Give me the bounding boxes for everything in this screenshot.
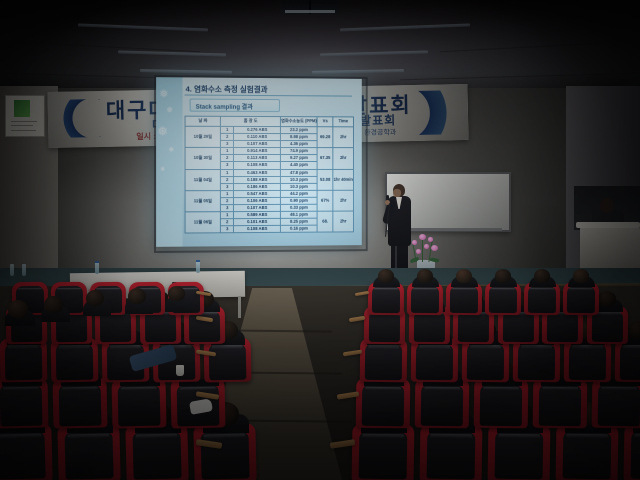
orchid-bloom xyxy=(412,240,417,245)
seat-cushion xyxy=(421,384,464,426)
seat-cushion xyxy=(209,343,246,380)
audience-head xyxy=(44,296,63,313)
presenter-face xyxy=(393,189,401,197)
seat-highlight xyxy=(211,345,243,349)
audience-member xyxy=(534,269,551,283)
seat-cushion xyxy=(480,384,523,426)
podium-person-head xyxy=(600,198,614,213)
audience-member xyxy=(44,296,63,313)
seat-cushion xyxy=(457,311,489,342)
water-bottle xyxy=(196,261,200,273)
seat-highlight xyxy=(483,386,520,390)
seat-highlight xyxy=(57,287,81,290)
water-bottle xyxy=(10,264,14,276)
seat-highlight xyxy=(470,345,502,348)
seat-cushion xyxy=(416,344,453,380)
seat-cushion xyxy=(494,431,543,479)
seat-cushion xyxy=(426,431,475,479)
audience-member xyxy=(573,269,590,283)
audience-head xyxy=(417,269,434,283)
seat-highlight xyxy=(109,345,141,349)
seat-cushion xyxy=(118,384,161,426)
orchid-bloom xyxy=(424,244,429,249)
orchid-bloom xyxy=(416,249,421,254)
seat-highlight xyxy=(424,386,461,390)
audience-head xyxy=(598,291,617,307)
seat-highlight xyxy=(58,345,90,349)
audience-member xyxy=(417,269,434,283)
orchid-bloom xyxy=(428,237,433,242)
table-leg xyxy=(238,296,241,318)
seat-cushion xyxy=(411,286,439,313)
seat-cushion xyxy=(0,384,43,426)
audience-member xyxy=(378,269,395,283)
seat-highlight xyxy=(634,434,640,439)
seat-cushion xyxy=(598,384,640,426)
seat-cushion xyxy=(56,343,93,380)
audience-member xyxy=(456,269,473,283)
poster-text-line xyxy=(11,125,33,126)
water-bottle xyxy=(95,262,99,274)
audience-member xyxy=(628,321,640,339)
audience-member xyxy=(598,291,617,307)
orchid-bloom xyxy=(419,234,426,240)
projector-body-seam xyxy=(309,0,311,14)
seat-highlight xyxy=(419,345,451,348)
seat-cushion xyxy=(489,286,517,313)
seat-highlight xyxy=(569,288,593,290)
seat-cushion xyxy=(569,344,606,380)
audience-head xyxy=(8,300,28,318)
seat-highlight xyxy=(430,434,472,439)
seat-cushion xyxy=(591,311,623,342)
audience-head xyxy=(456,269,473,283)
seat-highlight xyxy=(566,434,608,439)
seat-cushion xyxy=(450,286,478,313)
audience-member xyxy=(8,300,28,318)
audience-member xyxy=(168,286,185,301)
seat-cushion xyxy=(467,344,504,380)
audience-head xyxy=(495,269,512,283)
audience-member xyxy=(86,290,104,306)
seat-highlight xyxy=(368,345,400,348)
audience-head xyxy=(378,269,395,283)
seat-highlight xyxy=(572,345,604,348)
seat-cushion xyxy=(567,286,595,313)
bottle-cap xyxy=(95,261,99,263)
poster-text-line xyxy=(11,121,37,122)
audience-head xyxy=(628,321,640,339)
seat-cushion xyxy=(188,311,220,343)
orchid-bloom xyxy=(431,245,438,251)
bottle-cap xyxy=(196,260,200,262)
seat-cushion xyxy=(368,311,400,342)
seat-highlight xyxy=(491,288,515,290)
seat-highlight xyxy=(7,345,39,349)
seat-highlight xyxy=(452,288,476,290)
seat-highlight xyxy=(362,434,404,439)
wall-poster xyxy=(5,95,45,137)
seat-cushion xyxy=(144,311,176,343)
seat-cushion xyxy=(413,311,445,342)
poster-text-line xyxy=(11,130,36,131)
seat-highlight xyxy=(601,386,638,390)
ceiling-projector xyxy=(281,0,339,14)
audience-head xyxy=(534,269,551,283)
audience-member xyxy=(128,288,146,304)
seat-cushion xyxy=(362,384,405,426)
audience-head xyxy=(168,286,185,301)
auditorium-photo: 대구대 발표회 대구 발표회 일시 : 2009. 11. 20 대구대학교 환… xyxy=(0,0,640,480)
seat-highlight xyxy=(623,345,640,348)
seat-highlight xyxy=(521,345,553,348)
seat-highlight xyxy=(413,288,437,290)
lectern-top xyxy=(576,222,640,228)
seat-highlight xyxy=(530,288,554,290)
seat-cushion xyxy=(372,286,400,313)
seat-highlight xyxy=(542,386,579,390)
seat-cushion xyxy=(562,431,611,479)
seat-cushion xyxy=(365,344,402,380)
seat-cushion xyxy=(546,311,578,342)
seat-cushion xyxy=(630,431,640,479)
screen-frame xyxy=(154,75,368,253)
seat-cushion xyxy=(518,344,555,380)
seat-cushion xyxy=(502,311,534,342)
poster-logo-icon xyxy=(14,100,30,117)
seat-cushion xyxy=(539,384,582,426)
seat-highlight xyxy=(498,434,540,439)
seat-cushion xyxy=(358,431,407,479)
seat-highlight xyxy=(365,386,402,390)
seat-cushion xyxy=(59,384,102,426)
flower-stem xyxy=(422,238,423,262)
audience-head xyxy=(86,290,104,306)
audience-member xyxy=(495,269,512,283)
audience-head xyxy=(573,269,590,283)
lectern xyxy=(580,226,640,268)
seat-cushion xyxy=(620,344,640,380)
audience-head xyxy=(128,288,146,304)
seat-cushion xyxy=(5,343,42,380)
water-bottle xyxy=(22,264,26,276)
seat-cushion xyxy=(528,286,556,313)
seat-highlight xyxy=(18,287,42,290)
paper-cup xyxy=(176,365,184,376)
seat-highlight xyxy=(374,288,398,290)
